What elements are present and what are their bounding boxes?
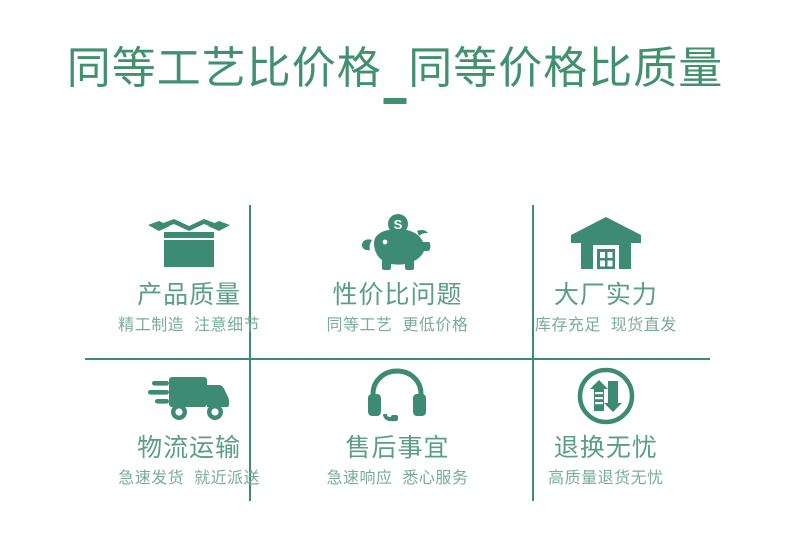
delivery-truck-icon: [147, 365, 231, 427]
feature-card-logistics: 物流运输 急速发货 就近派送: [85, 351, 293, 504]
header: 同等工艺比价格 同等价格比质量: [0, 42, 790, 96]
card-subtitle: 急速发货 就近派送: [118, 469, 260, 489]
card-subtitle: 库存充足 现货直发: [535, 316, 677, 336]
return-exchange-icon: [576, 365, 636, 427]
card-title: 产品质量: [137, 280, 241, 310]
feature-card-after-sales: 售后事宜 急速响应 悉心服务: [293, 351, 501, 504]
card-subtitle: 精工制造 注意细节: [118, 316, 260, 336]
card-title: 退换无忧: [554, 433, 658, 463]
title-divider-dash: [384, 98, 407, 104]
warehouse-icon: [569, 212, 643, 274]
page-title: 同等工艺比价格 同等价格比质量: [0, 42, 790, 96]
card-title: 大厂实力: [554, 280, 658, 310]
feature-card-cost-performance: S 性价比问题 同等工艺 更低价格: [293, 198, 501, 351]
card-title: 物流运输: [137, 433, 241, 463]
feature-card-easy-return: 退换无忧 高质量退货无忧: [502, 351, 710, 504]
feature-grid: 产品质量 精工制造 注意细节 S 性价比问题 同等工艺 更低价格: [85, 198, 710, 504]
card-subtitle: 高质量退货无忧: [548, 469, 664, 489]
card-title: 售后事宜: [345, 433, 449, 463]
open-box-icon: [146, 212, 232, 274]
feature-card-product-quality: 产品质量 精工制造 注意细节: [85, 198, 293, 351]
promo-banner: 同等工艺比价格 同等价格比质量 产品质量 精工制造 注: [0, 0, 790, 536]
piggy-bank-coin-icon: S: [360, 212, 434, 274]
headset-icon: [366, 365, 428, 427]
card-subtitle: 同等工艺 更低价格: [327, 316, 469, 336]
card-title: 性价比问题: [332, 280, 462, 310]
card-subtitle: 急速响应 悉心服务: [327, 469, 469, 489]
feature-card-factory-strength: 大厂实力 库存充足 现货直发: [502, 198, 710, 351]
svg-text:S: S: [394, 217, 403, 232]
